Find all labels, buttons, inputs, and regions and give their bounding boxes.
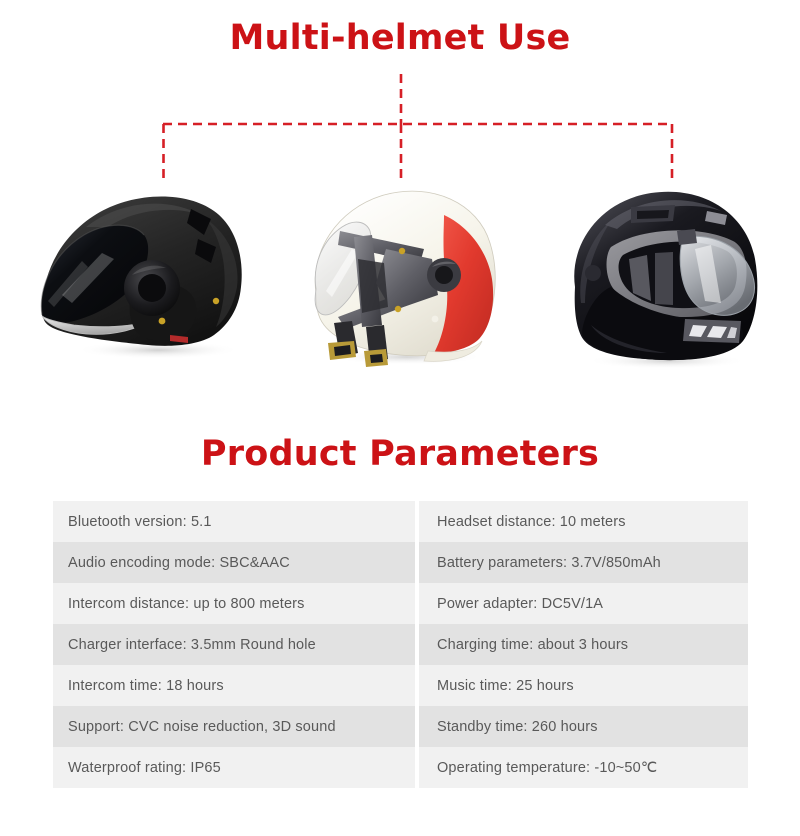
- interior-padding-2: [655, 252, 673, 305]
- table-row: Charger interface: 3.5mm Round hole: [53, 624, 415, 665]
- table-row: Waterproof rating: IP65: [53, 747, 415, 788]
- half-face-helmet: [28, 175, 278, 375]
- table-row: Support: CVC noise reduction, 3D sound: [53, 706, 415, 747]
- visor-pivot-knob-inner: [435, 266, 453, 284]
- table-row: Music time: 25 hours: [419, 665, 748, 706]
- stripe-stud: [432, 316, 439, 323]
- frame-screw-1: [399, 248, 405, 254]
- table-row: Intercom time: 18 hours: [53, 665, 415, 706]
- side-plate: [585, 265, 601, 281]
- table-row: Power adapter: DC5V/1A: [419, 583, 748, 624]
- visor-pivot-inner: [138, 274, 166, 302]
- table-row: Intercom distance: up to 800 meters: [53, 583, 415, 624]
- helmet-image-row: [0, 175, 800, 385]
- chin-vent: [683, 319, 741, 343]
- open-face-helmet: [292, 175, 517, 375]
- page-title-multi-helmet-use: Multi-helmet Use: [0, 16, 800, 60]
- full-face-helmet: [555, 175, 777, 375]
- parameters-left-column: Bluetooth version: 5.1 Audio encoding mo…: [53, 501, 415, 788]
- table-row: Operating temperature: -10~50℃: [419, 747, 748, 788]
- table-row: Audio encoding mode: SBC&AAC: [53, 542, 415, 583]
- frame-screw-2: [395, 306, 401, 312]
- buckle-right-inner: [370, 354, 383, 363]
- table-row: Headset distance: 10 meters: [419, 501, 748, 542]
- helmet-rivet-2: [213, 298, 219, 304]
- helmet-rivet-1: [159, 318, 166, 325]
- product-detail-page: Multi-helmet Use: [0, 0, 800, 836]
- visor-pivot: [677, 229, 697, 245]
- table-row: Bluetooth version: 5.1: [53, 501, 415, 542]
- product-parameters-table: Bluetooth version: 5.1 Audio encoding mo…: [53, 501, 748, 788]
- table-row: Charging time: about 3 hours: [419, 624, 748, 665]
- frame-carbon-panel: [358, 259, 388, 313]
- table-row: Battery parameters: 3.7V/850mAh: [419, 542, 748, 583]
- table-row: Standby time: 260 hours: [419, 706, 748, 747]
- helmet-top-vent-slot: [637, 210, 669, 219]
- parameters-right-column: Headset distance: 10 meters Battery para…: [419, 501, 748, 788]
- section-title-product-parameters: Product Parameters: [0, 432, 800, 476]
